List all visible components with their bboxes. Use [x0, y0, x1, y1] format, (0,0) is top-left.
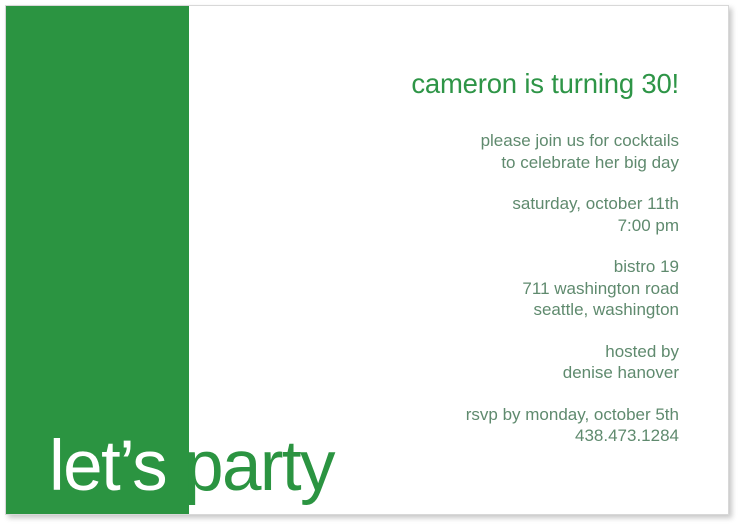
detail-line: bistro 19 — [466, 256, 679, 278]
host: hosted by denise hanover — [466, 341, 679, 384]
detail-line: please join us for cocktails — [466, 130, 679, 152]
invitation-content: cameron is turning 30! please join us fo… — [189, 6, 728, 514]
venue-address: bistro 19 711 washington road seattle, w… — [466, 256, 679, 321]
detail-line: rsvp by monday, october 5th — [466, 404, 679, 426]
detail-line: seattle, washington — [466, 299, 679, 321]
detail-line: 7:00 pm — [466, 215, 679, 237]
detail-line: to celebrate her big day — [466, 152, 679, 174]
detail-line: 438.473.1284 — [466, 425, 679, 447]
detail-line: 711 washington road — [466, 278, 679, 300]
date-time: saturday, october 11th 7:00 pm — [466, 193, 679, 236]
invitation-canvas: cameron is turning 30! please join us fo… — [0, 0, 740, 529]
invitation-purpose: please join us for cocktails to celebrat… — [466, 130, 679, 173]
left-color-panel — [6, 6, 189, 514]
rsvp: rsvp by monday, october 5th 438.473.1284 — [466, 404, 679, 447]
page-title: cameron is turning 30! — [411, 68, 679, 100]
detail-line: denise hanover — [466, 362, 679, 384]
detail-line: saturday, october 11th — [466, 193, 679, 215]
detail-line: hosted by — [466, 341, 679, 363]
invitation-card: cameron is turning 30! please join us fo… — [5, 5, 729, 515]
invitation-details: please join us for cocktails to celebrat… — [466, 130, 679, 447]
